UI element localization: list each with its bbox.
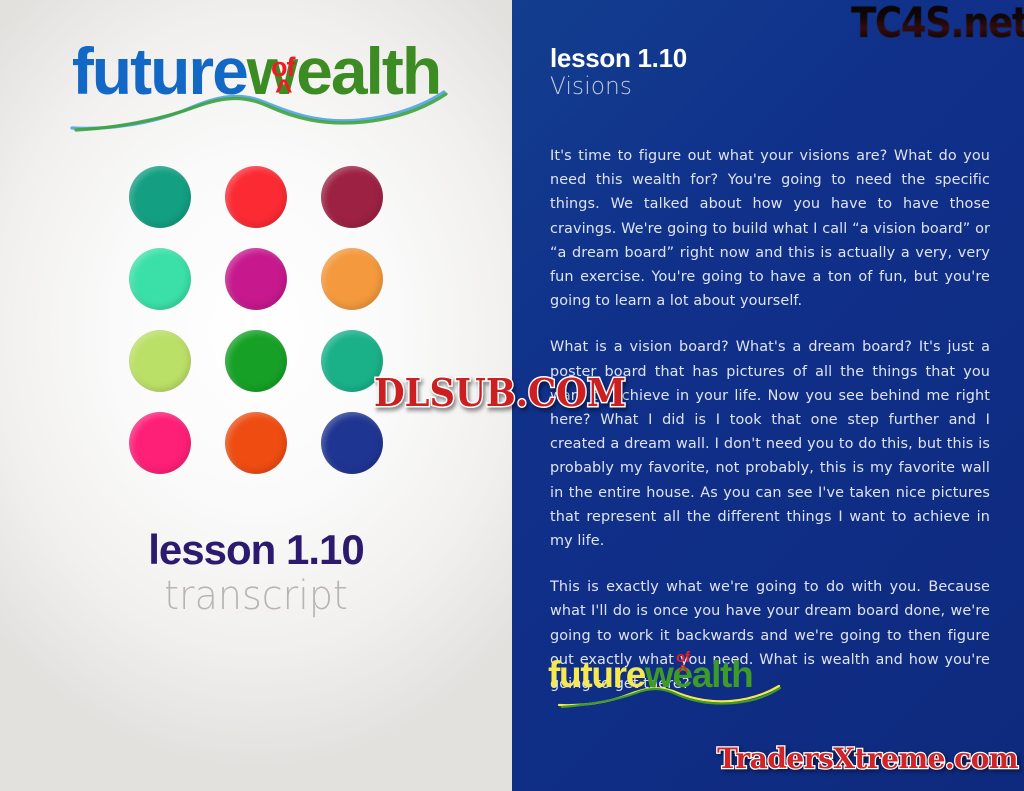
transcript-paragraph: It's time to figure out what your vision… xyxy=(550,144,990,313)
footer-logo-caret-icon: ^ xyxy=(678,662,688,679)
swatch-dot-green xyxy=(225,330,287,392)
lesson-number: lesson 1.10 xyxy=(550,44,687,73)
swatch-dot-orange xyxy=(321,248,383,310)
transcript-body: It's time to figure out what your vision… xyxy=(550,144,990,696)
lesson-title: Visions xyxy=(550,73,681,101)
swatch-dot-red xyxy=(225,166,287,228)
swatch-dot-teal-green xyxy=(321,330,383,392)
swatch-dot-mint xyxy=(129,248,191,310)
swatch-dot-hot-pink xyxy=(129,412,191,474)
cover-lesson-title: lesson 1.10 xyxy=(0,528,512,572)
slide-page: futurewealth of ^ xyxy=(0,0,1024,791)
color-swatch-grid xyxy=(129,166,384,474)
lesson-heading: lesson 1.10 Visions xyxy=(550,44,687,101)
brand-logo: futurewealth of ^ xyxy=(0,28,512,133)
swatch-dot-teal xyxy=(129,166,191,228)
cover-title-block: lesson 1.10 transcript xyxy=(0,528,512,618)
logo-caret-icon: ^ xyxy=(275,76,293,106)
logo-future-text: future xyxy=(72,34,247,108)
swatch-dot-magenta xyxy=(225,248,287,310)
transcript-paragraph: What is a vision board? What's a dream b… xyxy=(550,335,990,553)
logo-wordmark: futurewealth xyxy=(46,38,466,104)
footer-logo-swoosh-icon xyxy=(556,684,781,708)
swatch-dot-maroon xyxy=(321,166,383,228)
footer-brand-logo: futurewealth of ^ xyxy=(548,650,798,712)
watermark-tc4s: TC4S.net xyxy=(851,0,1024,47)
swatch-dot-yellow-green xyxy=(129,330,191,392)
cover-panel: futurewealth of ^ xyxy=(0,0,512,791)
cover-subtitle: transcript xyxy=(13,574,499,618)
swatch-dot-orange-red xyxy=(225,412,287,474)
swatch-dot-navy xyxy=(321,412,383,474)
